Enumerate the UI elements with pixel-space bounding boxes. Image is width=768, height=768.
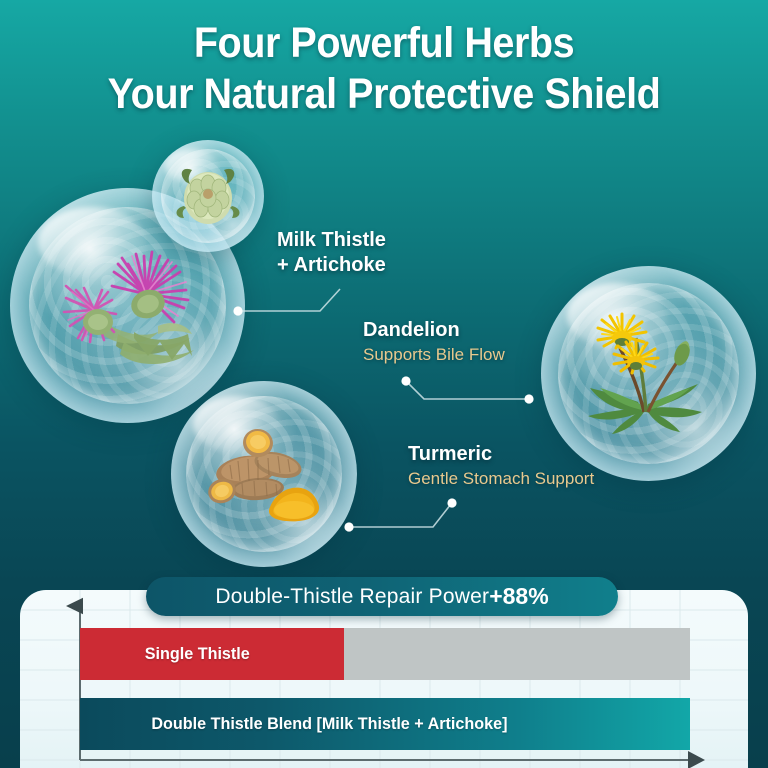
title-line-2: Your Natural Protective Shield <box>31 68 738 120</box>
callout-milk-thistle-line2: + Artichoke <box>277 253 386 278</box>
callout-dandelion-subtitle: Supports Bile Flow <box>363 343 505 366</box>
connector-dandelion <box>406 381 528 399</box>
repair-power-banner-text: Double-Thistle Repair Power <box>215 585 489 609</box>
turmeric-bubble <box>171 381 357 567</box>
bar-double-thistle: Double Thistle Blend [Milk Thistle + Art… <box>80 698 690 750</box>
connector-turmeric <box>349 504 451 527</box>
repair-power-banner-percent: +88% <box>489 583 548 610</box>
page-title: Four Powerful Herbs Your Natural Protect… <box>0 18 768 120</box>
callout-dandelion-title: Dandelion <box>363 318 505 343</box>
bar-single-thistle-track <box>344 628 690 680</box>
callout-turmeric-subtitle: Gentle Stomach Support <box>408 467 594 490</box>
infographic-poster: Four Powerful Herbs Your Natural Protect… <box>0 0 768 768</box>
title-line-1: Four Powerful Herbs <box>31 18 738 68</box>
callout-milk-thistle-line1: Milk Thistle <box>277 228 386 253</box>
callout-turmeric: Turmeric Gentle Stomach Support <box>408 442 594 490</box>
bar-double-thistle-label: Double Thistle Blend [Milk Thistle + Art… <box>151 714 507 734</box>
artichoke-bubble <box>152 140 264 252</box>
bar-single-thistle: Single Thistle <box>80 628 690 680</box>
turmeric-root-image <box>171 381 357 567</box>
callout-dandelion: Dandelion Supports Bile Flow <box>363 318 505 366</box>
artichoke-image <box>152 140 264 252</box>
repair-power-banner: Double-Thistle Repair Power+88% <box>146 577 618 616</box>
connector-dot-dandelion-end <box>524 394 533 403</box>
callout-milk-thistle: Milk Thistle + Artichoke <box>277 228 386 278</box>
callout-turmeric-title: Turmeric <box>408 442 594 467</box>
connector-dot-turmeric-end <box>447 498 456 507</box>
connector-dot-dandelion-start <box>401 376 410 385</box>
bar-single-thistle-label: Single Thistle <box>145 644 250 664</box>
connector-milk-thistle <box>238 289 340 311</box>
